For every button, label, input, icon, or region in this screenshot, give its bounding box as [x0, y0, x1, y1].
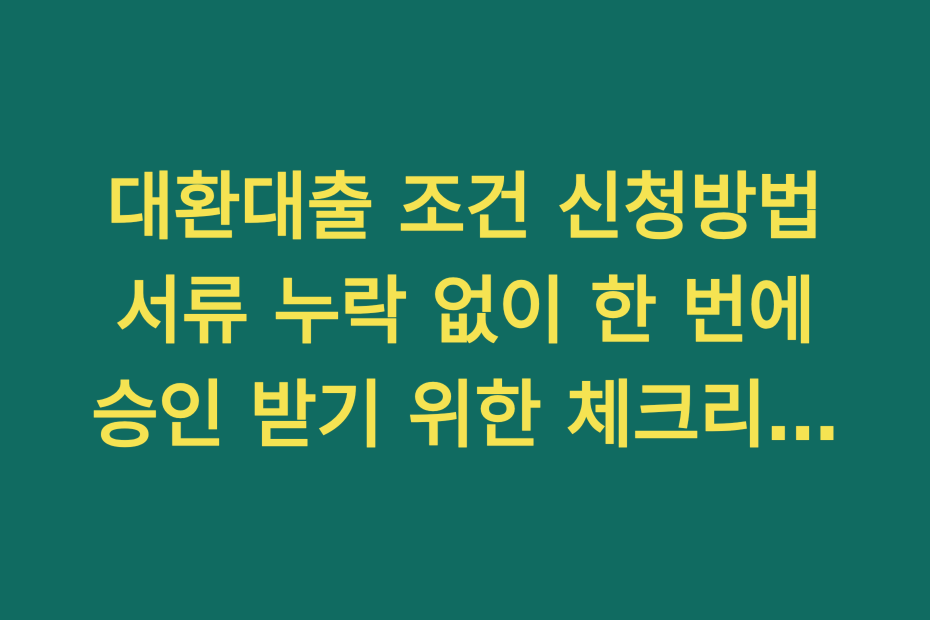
title-block: 대환대출 조건 신청방법 서류 누락 없이 한 번에 승인 받기 위한 체크리… [0, 156, 930, 468]
title-line-3: 승인 받기 위한 체크리… [24, 364, 906, 468]
thumbnail-card: 대환대출 조건 신청방법 서류 누락 없이 한 번에 승인 받기 위한 체크리… [0, 0, 930, 620]
title-line-2: 서류 누락 없이 한 번에 [24, 260, 906, 364]
title-line-1: 대환대출 조건 신청방법 [24, 156, 906, 260]
